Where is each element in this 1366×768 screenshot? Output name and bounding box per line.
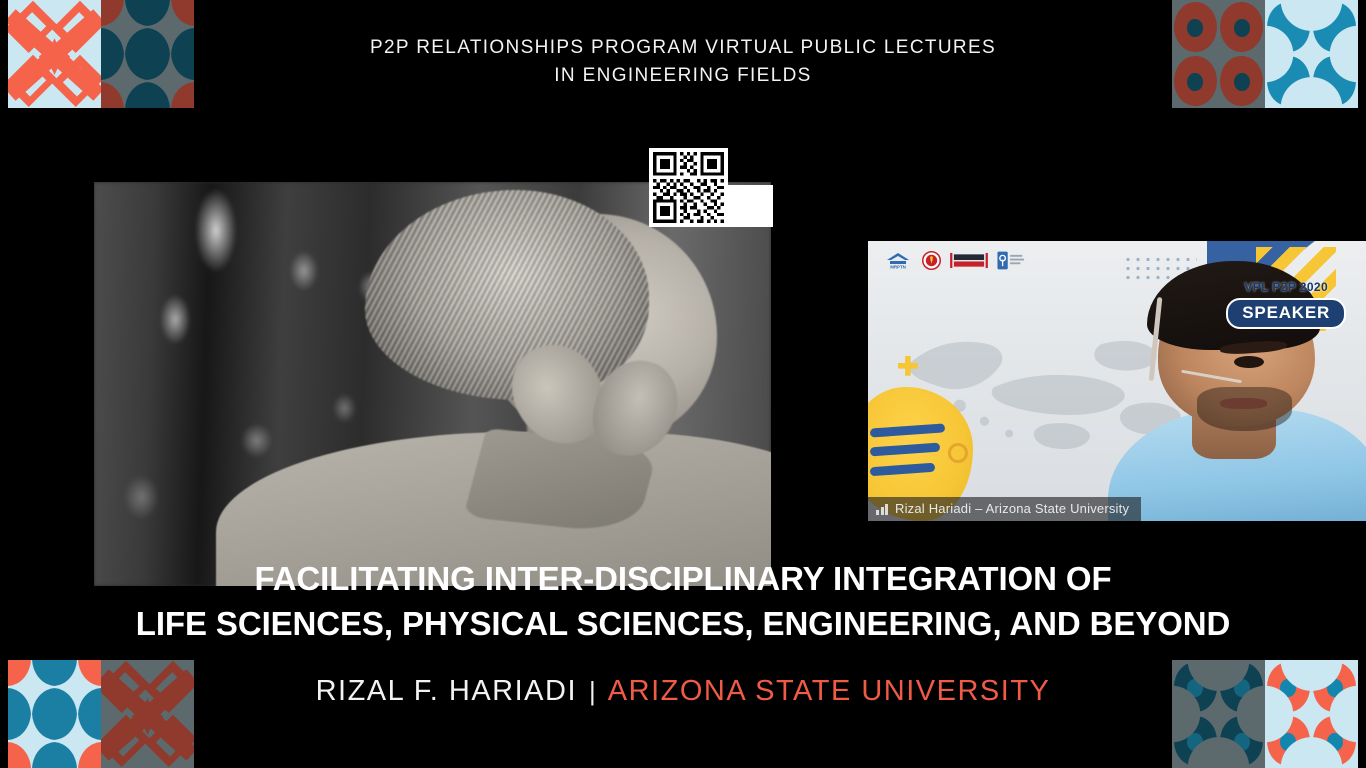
- tile-x-teal-rust-gray: [101, 0, 194, 108]
- decor-corner-top-left: [8, 0, 194, 108]
- tile-circles-rust-gray: [1172, 0, 1265, 108]
- tile-circles-teal-lightblue: [1265, 0, 1358, 108]
- tile-star-orange-lightblue: [8, 0, 101, 108]
- speaker-portrait-photo: [94, 182, 771, 586]
- qr-code[interactable]: [649, 148, 728, 227]
- header-line-1: P2P RELATIONSHIPS PROGRAM VIRTUAL PUBLIC…: [0, 34, 1366, 62]
- lecture-title: FACILITATING INTER-DISCIPLINARY INTEGRAT…: [0, 556, 1366, 646]
- decor-corner-top-right: [1172, 0, 1358, 108]
- speaker-affiliation: ARIZONA STATE UNIVERSITY: [608, 675, 1051, 707]
- organizer-logos: MRPTN: [883, 251, 1025, 270]
- mrptn-logo: MRPTN: [883, 251, 913, 269]
- video-caption-bar: Rizal Hariadi – Arizona State University: [868, 497, 1141, 521]
- header-line-2: IN ENGINEERING FIELDS: [0, 62, 1366, 90]
- speaker-badge-label: SPEAKER: [1226, 298, 1346, 329]
- slide-canvas: P2P RELATIONSHIPS PROGRAM VIRTUAL PUBLIC…: [0, 0, 1366, 768]
- title-line-2: LIFE SCIENCES, PHYSICAL SCIENCES, ENGINE…: [0, 601, 1366, 646]
- person-mouth: [1220, 398, 1267, 409]
- red-seal-logo: [922, 251, 941, 270]
- speaker-video-panel[interactable]: MRPTN VPL P2P 202: [868, 241, 1366, 521]
- blue-institution-logo: [997, 251, 1025, 270]
- credit-separator: |: [589, 676, 596, 706]
- speaker-name: RIZAL F. HARIADI: [316, 675, 577, 707]
- signal-bars-icon: [876, 503, 888, 515]
- video-caption-text: Rizal Hariadi – Arizona State University: [895, 501, 1129, 516]
- svg-text:MRPTN: MRPTN: [890, 265, 906, 270]
- speaker-credit: RIZAL F. HARIADI|ARIZONA STATE UNIVERSIT…: [0, 675, 1366, 708]
- qr-code-backdrop: [728, 185, 773, 227]
- speaker-badge: VPL P2P 2020 SPEAKER: [1226, 280, 1346, 329]
- decorative-ring-shape: [948, 443, 968, 463]
- title-line-1: FACILITATING INTER-DISCIPLINARY INTEGRAT…: [0, 556, 1366, 601]
- indonesia-maju-logo: [950, 252, 988, 269]
- speaker-badge-event: VPL P2P 2020: [1226, 280, 1346, 294]
- program-header: P2P RELATIONSHIPS PROGRAM VIRTUAL PUBLIC…: [0, 34, 1366, 90]
- person-beard: [1197, 387, 1292, 432]
